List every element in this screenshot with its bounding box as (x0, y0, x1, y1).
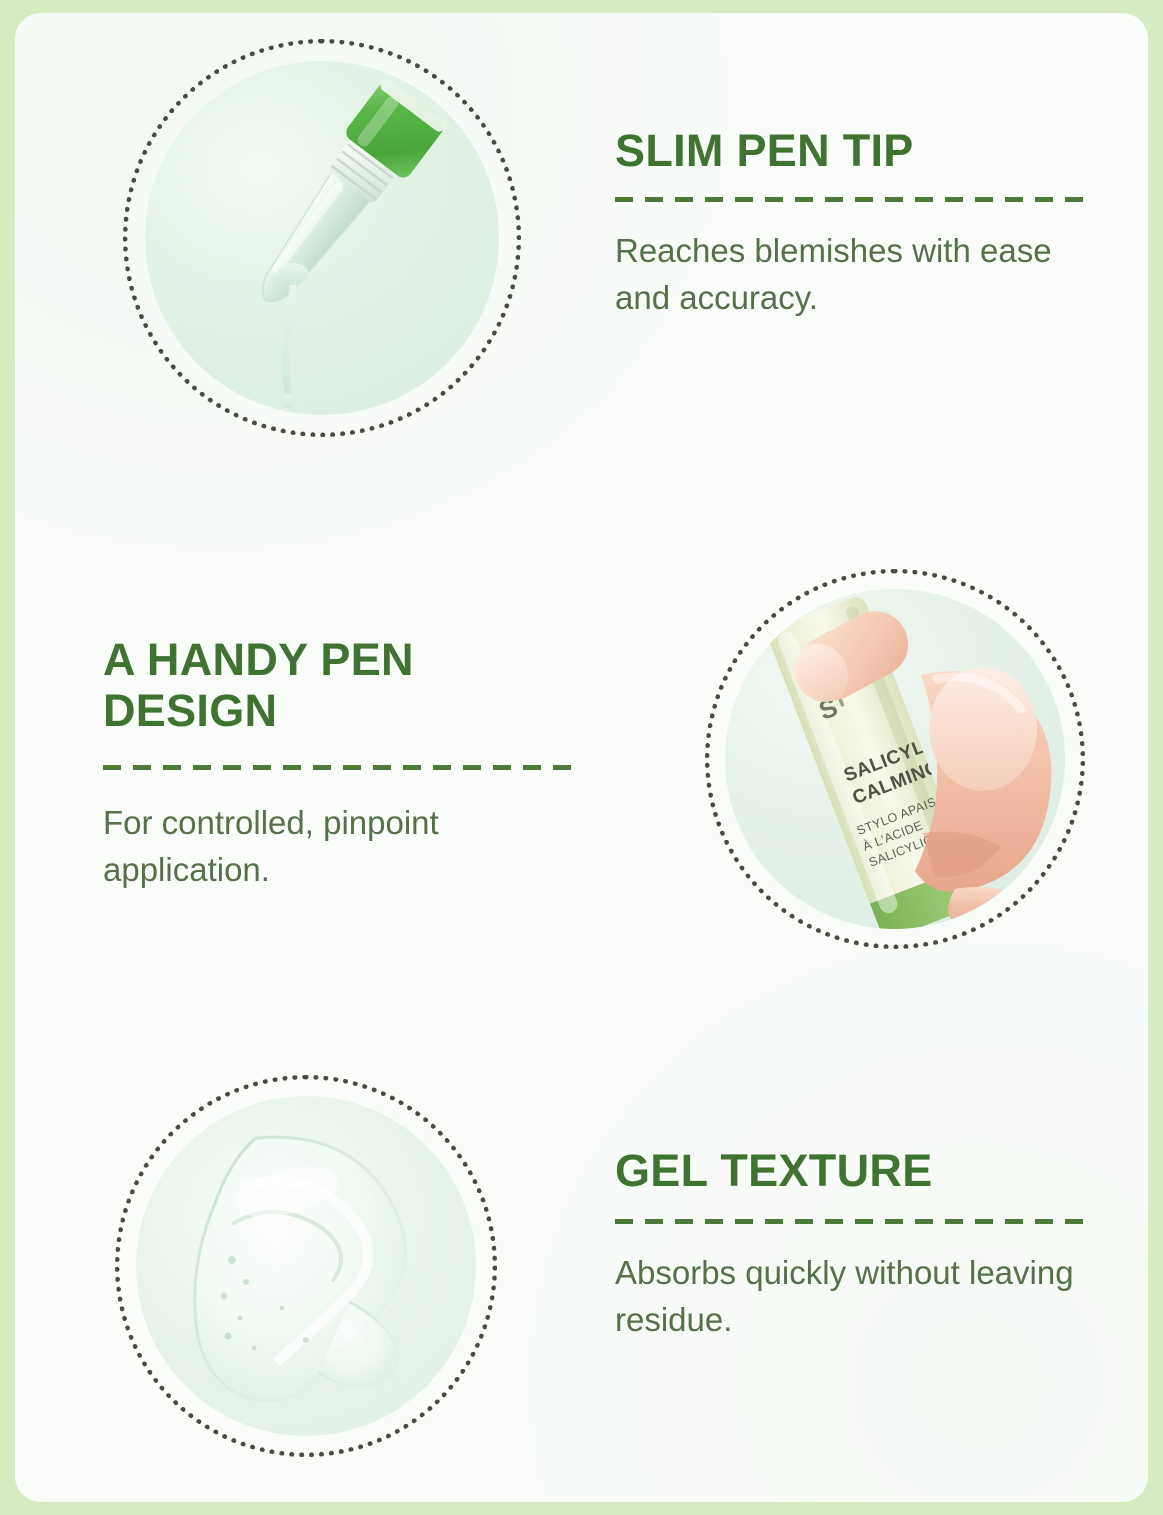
feature-title-handy-pen: A HANDY PEN DESIGN (103, 635, 573, 737)
feature-divider (103, 765, 573, 770)
dotted-ring (115, 1075, 497, 1457)
feature-title-gel-texture: GEL TEXTURE (615, 1146, 1093, 1197)
feature-title-slim-pen-tip: SLIM PEN TIP (615, 126, 1093, 177)
content-card: SLIM PEN TIP Reaches blemishes with ease… (15, 13, 1148, 1502)
infographic-page: SLIM PEN TIP Reaches blemishes with ease… (0, 0, 1163, 1515)
feature-block-gel-texture: GEL TEXTURE Absorbs quickly without leav… (615, 1146, 1093, 1344)
feature-body-slim-pen-tip: Reaches blemishes with ease and accuracy… (615, 228, 1093, 322)
feature-body-handy-pen: For controlled, pinpoint application. (103, 800, 573, 894)
feature-divider (615, 1219, 1093, 1224)
dotted-ring (123, 39, 521, 437)
feature-image-slim-pen-tip (123, 39, 521, 437)
feature-image-handy-pen: S I SALICYLIC ACID CALMING PEN STYLO APA… (705, 569, 1085, 949)
feature-image-gel-texture (115, 1075, 497, 1457)
feature-block-slim-pen-tip: SLIM PEN TIP Reaches blemishes with ease… (615, 126, 1093, 322)
feature-body-gel-texture: Absorbs quickly without leaving residue. (615, 1250, 1093, 1344)
feature-block-handy-pen: A HANDY PEN DESIGN For controlled, pinpo… (103, 635, 573, 893)
dotted-ring (705, 569, 1085, 949)
feature-divider (615, 197, 1093, 202)
